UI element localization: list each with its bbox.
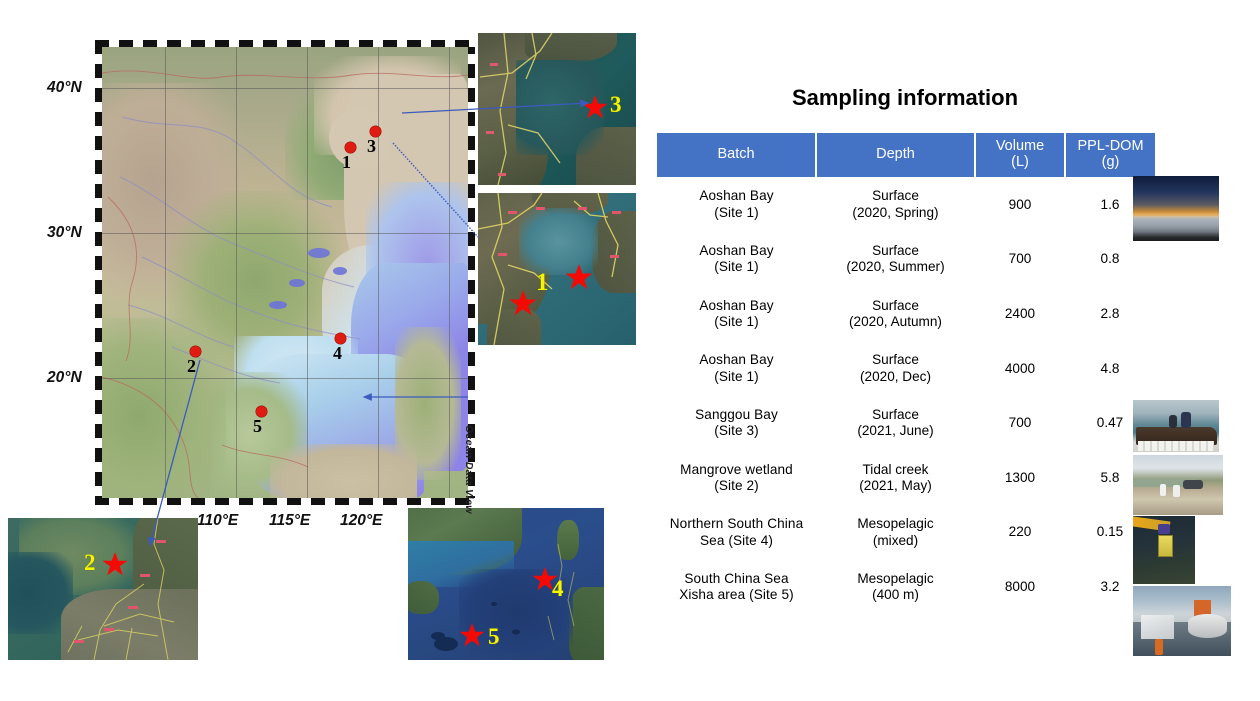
inset45-star-5	[459, 622, 485, 648]
cell-depth: Surface (2020, Summer)	[816, 232, 975, 287]
cell-depth: Surface (2020, Autumn)	[816, 287, 975, 342]
photo-ship-deck-winch	[1133, 586, 1231, 656]
column-header-volume[interactable]: Volume (L)	[975, 133, 1065, 177]
cell-batch-line1: Aoshan Bay	[699, 352, 773, 367]
cell-depth: Surface (2021, June)	[816, 396, 975, 451]
cell-depth: Tidal creek (2021, May)	[816, 451, 975, 506]
cell-depth-line1: Surface	[872, 188, 919, 203]
cell-batch-line1: Aoshan Bay	[699, 243, 773, 258]
inset2-star	[102, 551, 128, 577]
map-lon-label-110e: 110°E	[197, 512, 238, 530]
photo-shore-worker-1	[1160, 484, 1166, 496]
cell-batch-line2: (Site 1)	[714, 205, 759, 220]
inset1-star-inner	[509, 289, 537, 317]
cell-batch-line2: (Site 2)	[714, 478, 759, 493]
table-row: Aoshan Bay (Site 1) Surface (2020, Sprin…	[657, 177, 1155, 232]
cell-depth: Mesopelagic (400 m)	[816, 560, 975, 615]
cell-depth-line2: (2020, Dec)	[860, 369, 931, 384]
cell-batch: Northern South China Sea (Site 4)	[657, 505, 816, 560]
cell-batch-line2: (Site 1)	[714, 314, 759, 329]
cell-volume: 2400	[975, 287, 1065, 342]
inset2-label: 2	[84, 550, 96, 576]
cell-batch-line2: (Site 1)	[714, 259, 759, 274]
inset45-label-4: 4	[552, 576, 564, 602]
cell-batch: Aoshan Bay (Site 1)	[657, 341, 816, 396]
photo-boat-containers	[1138, 441, 1214, 451]
inset-site-3[interactable]: 3	[478, 33, 636, 185]
photo-shore-worker-2	[1173, 485, 1180, 497]
photo-winch-grab	[1158, 524, 1170, 534]
cell-volume: 700	[975, 396, 1065, 451]
cell-depth: Mesopelagic (mixed)	[816, 505, 975, 560]
cell-batch-line1: Northern South China	[670, 516, 803, 531]
column-header-ppl-dom-line2: (g)	[1102, 154, 1120, 170]
cell-batch-line2: Xisha area (Site 5)	[679, 587, 793, 602]
table-title: Sampling information	[655, 85, 1155, 111]
cell-depth-line2: (mixed)	[873, 533, 918, 548]
column-header-volume-line2: (L)	[1011, 154, 1029, 170]
cell-batch-line2: Sea (Site 4)	[700, 533, 773, 548]
map-lat-label-30n: 30°N	[47, 224, 82, 242]
photo-ship-equipment-box	[1141, 615, 1174, 639]
cell-depth: Surface (2020, Spring)	[816, 177, 975, 232]
table-row: Sanggou Bay (Site 3) Surface (2021, June…	[657, 396, 1155, 451]
map-graticule	[102, 47, 468, 498]
cell-batch-line1: Aoshan Bay	[699, 298, 773, 313]
cell-batch: South China Sea Xisha area (Site 5)	[657, 560, 816, 615]
table-row: Mangrove wetland (Site 2) Tidal creek (2…	[657, 451, 1155, 506]
cell-depth-line1: Surface	[872, 243, 919, 258]
inset1-star-outer	[565, 263, 593, 291]
cell-batch: Aoshan Bay (Site 1)	[657, 232, 816, 287]
cell-depth-line1: Mesopelagic	[857, 571, 933, 586]
inset45-features	[408, 508, 604, 660]
photo-sunset-glint	[1133, 216, 1219, 233]
table-row: Aoshan Bay (Site 1) Surface (2020, Dec) …	[657, 341, 1155, 396]
map-lon-label-115e: 115°E	[269, 512, 310, 530]
cell-depth-line1: Tidal creek	[863, 462, 929, 477]
cell-depth-line2: (2020, Spring)	[852, 205, 938, 220]
photo-ship-winch-drum	[1188, 614, 1227, 638]
inset1-roads	[478, 193, 636, 345]
cell-batch-line1: Sanggou Bay	[695, 407, 778, 422]
sampling-information-table: Batch Depth Volume (L) PPL-DOM (g) Aosha…	[657, 133, 1155, 614]
photo-shore-sampling	[1133, 455, 1223, 515]
inset-site-2[interactable]: 2	[8, 518, 198, 660]
table-row: Aoshan Bay (Site 1) Surface (2020, Autum…	[657, 287, 1155, 342]
cell-depth-line2: (2020, Summer)	[846, 259, 944, 274]
main-map: 3 1 2 4 5	[95, 40, 475, 505]
map-watermark-odv: Ocean Data View	[463, 425, 475, 514]
cell-depth-line2: (2021, May)	[859, 478, 932, 493]
map-site-label-2: 2	[187, 356, 196, 377]
map-lon-label-120e: 120°E	[340, 512, 382, 530]
photo-shore-vehicle	[1183, 480, 1203, 488]
cell-volume: 220	[975, 505, 1065, 560]
cell-batch-line1: Mangrove wetland	[680, 462, 793, 477]
cell-batch: Aoshan Bay (Site 1)	[657, 177, 816, 232]
cell-depth: Surface (2020, Dec)	[816, 341, 975, 396]
inset-site-1[interactable]: 1	[478, 193, 636, 345]
column-header-ppl-dom[interactable]: PPL-DOM (g)	[1065, 133, 1155, 177]
map-canvas	[102, 47, 468, 498]
cell-depth-line1: Surface	[872, 407, 919, 422]
cell-depth-line1: Surface	[872, 298, 919, 313]
cell-volume: 900	[975, 177, 1065, 232]
cell-batch: Sanggou Bay (Site 3)	[657, 396, 816, 451]
table-row: Aoshan Bay (Site 1) Surface (2020, Summe…	[657, 232, 1155, 287]
cell-depth-line2: (2020, Autumn)	[849, 314, 942, 329]
map-lat-label-20n: 20°N	[47, 369, 82, 387]
cell-batch-line1: South China Sea	[684, 571, 788, 586]
column-header-depth-line1: Depth	[876, 146, 915, 162]
table-row: Northern South China Sea (Site 4) Mesope…	[657, 505, 1155, 560]
inset2-roads	[8, 518, 198, 660]
cell-depth-line1: Surface	[872, 352, 919, 367]
inset-site-4-5[interactable]: 4 5	[408, 508, 604, 660]
cell-batch-line1: Aoshan Bay	[699, 188, 773, 203]
photo-boat-sampling	[1133, 400, 1219, 452]
inset3-label: 3	[610, 92, 622, 118]
cell-volume: 8000	[975, 560, 1065, 615]
table-header-row: Batch Depth Volume (L) PPL-DOM (g)	[657, 133, 1155, 177]
cell-ppl-dom: 4.8	[1065, 341, 1155, 396]
cell-volume: 4000	[975, 341, 1065, 396]
inset3-star	[582, 94, 608, 120]
map-lat-label-40n: 40°N	[47, 79, 82, 97]
table-row: South China Sea Xisha area (Site 5) Meso…	[657, 560, 1155, 615]
photo-winch-sample-bottle	[1158, 535, 1174, 557]
photo-ship-crew	[1155, 639, 1164, 654]
cell-depth-line1: Mesopelagic	[857, 516, 933, 531]
cell-batch: Aoshan Bay (Site 1)	[657, 287, 816, 342]
cell-batch-line2: (Site 1)	[714, 369, 759, 384]
cell-depth-line2: (400 m)	[872, 587, 919, 602]
cell-ppl-dom: 2.8	[1065, 287, 1155, 342]
column-header-ppl-dom-line1: PPL-DOM	[1077, 138, 1143, 154]
map-site-label-5: 5	[253, 416, 262, 437]
cell-depth-line2: (2021, June)	[857, 423, 933, 438]
photo-boat-person-1	[1169, 415, 1177, 429]
photo-sunset-sea	[1133, 176, 1219, 241]
column-header-batch-line1: Batch	[717, 146, 754, 162]
map-site-label-3: 3	[367, 136, 376, 157]
cell-batch: Mangrove wetland (Site 2)	[657, 451, 816, 506]
map-site-label-1: 1	[342, 152, 351, 173]
column-header-depth[interactable]: Depth	[816, 133, 975, 177]
cell-volume: 700	[975, 232, 1065, 287]
inset45-label-5: 5	[488, 624, 500, 650]
cell-batch-line2: (Site 3)	[714, 423, 759, 438]
map-site-label-4: 4	[333, 343, 342, 364]
photo-winch-bottle	[1133, 516, 1195, 584]
inset1-label: 1	[536, 269, 549, 297]
photo-boat-person-2	[1181, 412, 1190, 428]
column-header-volume-line1: Volume	[996, 138, 1044, 154]
column-header-batch[interactable]: Batch	[657, 133, 816, 177]
cell-volume: 1300	[975, 451, 1065, 506]
